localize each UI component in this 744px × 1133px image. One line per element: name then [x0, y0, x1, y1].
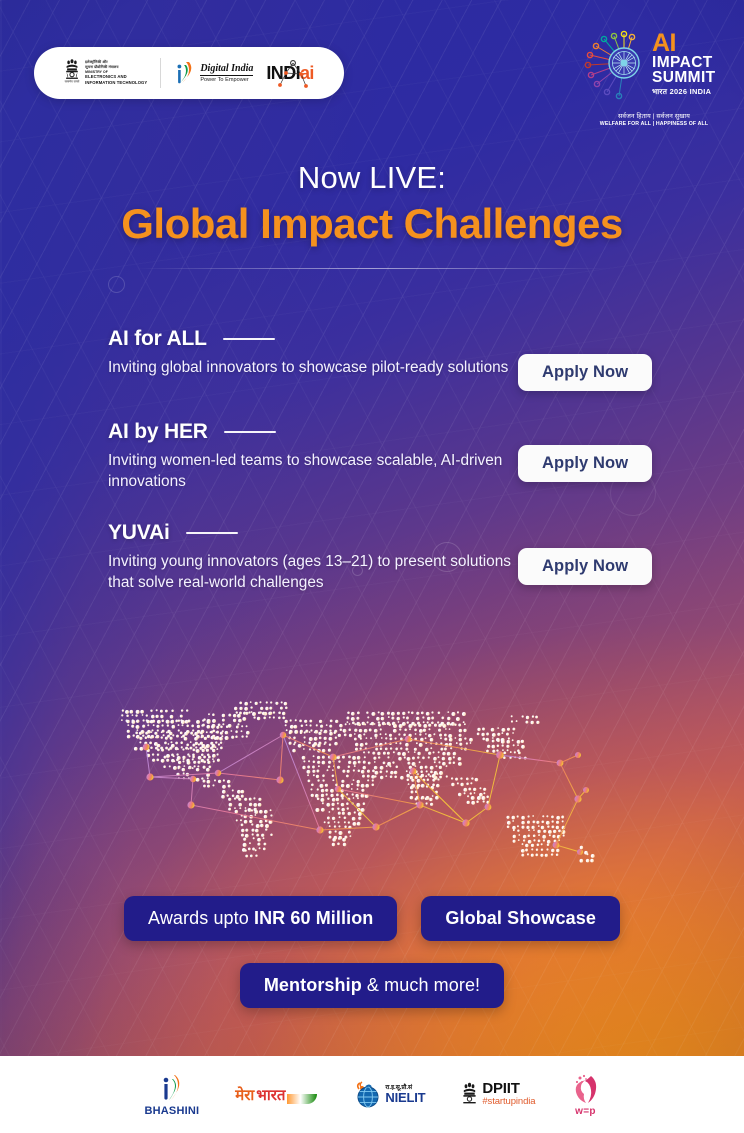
challenge-action-slot: Apply Now	[518, 548, 714, 585]
challenge-description: Inviting global innovators to showcase p…	[108, 358, 518, 379]
challenge-action-slot: Apply Now	[518, 445, 714, 482]
challenge-row-yuvai: YUVAi Inviting young innovators (ages 13…	[0, 521, 744, 593]
partner-logo-dpiit: DPIIT #startupindia	[461, 1081, 535, 1108]
logo-divider	[160, 58, 161, 88]
challenge-rule-icon	[186, 532, 238, 534]
mentorship-bold-text: Mentorship	[264, 975, 362, 995]
ai-impact-summit-logo: AI IMPACT SUMMIT भारत 2026 INDIA सर्वजन …	[574, 24, 734, 127]
summit-chakra-network-icon	[574, 24, 648, 102]
challenge-action-slot: Apply Now	[518, 354, 714, 391]
indiaai-wordmark: INDIai	[266, 63, 313, 84]
decorative-circle	[108, 276, 125, 293]
partner-logo-my-bharat: मेरा भारत	[235, 1085, 317, 1105]
nielit-logo-wrap: रा.इ.सू.प्रौ.सं NIELIT	[353, 1081, 425, 1109]
india-national-emblem-icon	[461, 1081, 478, 1108]
challenge-text-block: AI for ALL Inviting global innovators to…	[108, 327, 518, 379]
pill-row-primary: Awards upto INR 60 Million Global Showca…	[0, 896, 744, 941]
indiaai-logo: INDIai	[266, 63, 313, 84]
challenge-rule-icon	[224, 431, 276, 433]
mentorship-pill: Mentorship & much more!	[240, 963, 504, 1008]
challenge-description: Inviting women-led teams to showcase sca…	[108, 451, 518, 492]
partner-logo-footer: BHASHINI मेरा भारत	[0, 1056, 744, 1133]
dpiit-text-block: DPIIT #startupindia	[482, 1081, 535, 1107]
summit-bharat-year: भारत 2026 INDIA	[652, 88, 716, 95]
my-bharat-tricolour-swoosh-icon	[287, 1094, 317, 1104]
summit-tagline: सर्वजन हिताय | सर्वजन सुखाय WELFARE FOR …	[574, 111, 734, 127]
summit-ai-text: AI	[652, 31, 716, 56]
partner-logo-wep: w=p	[571, 1073, 599, 1117]
apply-now-button-yuvai[interactable]: Apply Now	[518, 548, 652, 585]
digital-india-tagline: Power To Empower	[200, 77, 253, 83]
digital-india-title: Digital India	[200, 63, 253, 76]
awards-prefix-text: Awards upto	[148, 908, 254, 928]
challenge-heading: YUVAi	[108, 521, 518, 545]
summit-logo-row: AI IMPACT SUMMIT भारत 2026 INDIA	[574, 24, 734, 102]
ministry-name-text: इलेक्ट्रॉनिकी और सूचना प्रौद्योगिकी मंत्…	[85, 60, 147, 85]
summit-tagline-hindi: सर्वजन हिताय | सर्वजन सुखाय	[574, 111, 734, 120]
bhashini-label: BHASHINI	[145, 1105, 200, 1117]
my-bharat-hindi-bharat: भारत	[256, 1085, 285, 1105]
wep-label: w=p	[575, 1106, 596, 1117]
bhashini-icon	[158, 1073, 186, 1103]
digital-india-icon	[174, 59, 196, 87]
mentorship-rest-text: & much more!	[362, 975, 480, 995]
dpiit-logo-wrap: DPIIT #startupindia	[461, 1081, 535, 1108]
dotted-world-map-network-graphic	[108, 695, 648, 875]
page-title: Global Impact Challenges	[0, 200, 744, 248]
summit-wordmark: AI IMPACT SUMMIT भारत 2026 INDIA	[652, 31, 716, 96]
challenge-row-ai-for-all: AI for ALL Inviting global innovators to…	[0, 327, 744, 391]
poster-title-block: Now LIVE: Global Impact Challenges	[0, 160, 744, 269]
challenge-text-block: YUVAi Inviting young innovators (ages 13…	[108, 521, 518, 593]
india-national-emblem-icon: सत्यमेव जयते	[64, 57, 80, 89]
highlight-pill-group: Awards upto INR 60 Million Global Showca…	[0, 896, 744, 1008]
digital-india-block: Digital India Power To Empower	[174, 59, 253, 87]
apply-now-button-ai-for-all[interactable]: Apply Now	[518, 354, 652, 391]
challenge-list: AI for ALL Inviting global innovators to…	[0, 327, 744, 594]
my-bharat-wordmark: मेरा भारत	[235, 1085, 317, 1105]
apply-now-button-ai-by-her[interactable]: Apply Now	[518, 445, 652, 482]
pill-row-secondary: Mentorship & much more!	[0, 963, 744, 1008]
my-bharat-hindi-mera: मेरा	[235, 1085, 254, 1105]
global-showcase-text: Global Showcase	[445, 908, 596, 928]
ministry-emblem-block: सत्यमेव जयते इलेक्ट्रॉनिकी और सूचना प्रौ…	[64, 57, 147, 89]
summit-impact-text: IMPACT	[652, 55, 716, 70]
dpiit-label: DPIIT	[482, 1081, 535, 1097]
ashoka-chakra-icon	[609, 48, 639, 78]
indiaai-ai-part: ai	[300, 63, 314, 83]
poster-canvas: सत्यमेव जयते इलेक्ट्रॉनिकी और सूचना प्रौ…	[0, 0, 744, 1133]
ministry-logo-bar: सत्यमेव जयते इलेक्ट्रॉनिकी और सूचना प्रौ…	[34, 47, 344, 99]
nielit-globe-icon	[353, 1081, 381, 1109]
challenge-name: YUVAi	[108, 521, 170, 545]
challenge-rule-icon	[223, 338, 275, 340]
global-showcase-pill: Global Showcase	[421, 896, 620, 941]
title-kicker: Now LIVE:	[0, 160, 744, 196]
indiaai-india-part: INDI	[266, 63, 300, 83]
summit-summit-text: SUMMIT	[652, 70, 716, 85]
awards-pill: Awards upto INR 60 Million	[124, 896, 397, 941]
wep-woman-head-icon	[571, 1073, 599, 1105]
world-map-icon	[108, 695, 648, 875]
ministry-line-3: INFORMATION TECHNOLOGY	[85, 80, 147, 86]
map-node-dots	[143, 732, 589, 855]
nielit-text-block: रा.इ.सू.प्रौ.सं NIELIT	[385, 1085, 425, 1105]
challenge-heading: AI for ALL	[108, 327, 518, 351]
nielit-label: NIELIT	[385, 1091, 425, 1105]
partner-logo-bhashini: BHASHINI	[145, 1073, 200, 1117]
summit-tagline-english: WELFARE FOR ALL | HAPPINESS OF ALL	[574, 121, 734, 127]
startupindia-label: #startupindia	[482, 1097, 535, 1107]
challenge-name: AI for ALL	[108, 327, 207, 351]
awards-amount-text: INR 60 Million	[254, 908, 373, 928]
emblem-motto: सत्यमेव जयते	[65, 79, 80, 83]
challenge-text-block: AI by HER Inviting women-led teams to sh…	[108, 420, 518, 492]
title-divider	[137, 268, 607, 269]
digital-india-text: Digital India Power To Empower	[200, 63, 253, 83]
challenge-heading: AI by HER	[108, 420, 518, 444]
challenge-row-ai-by-her: AI by HER Inviting women-led teams to sh…	[0, 420, 744, 492]
challenge-description: Inviting young innovators (ages 13–21) t…	[108, 552, 518, 593]
partner-logo-nielit: रा.इ.सू.प्रौ.सं NIELIT	[353, 1081, 425, 1109]
challenge-name: AI by HER	[108, 420, 208, 444]
